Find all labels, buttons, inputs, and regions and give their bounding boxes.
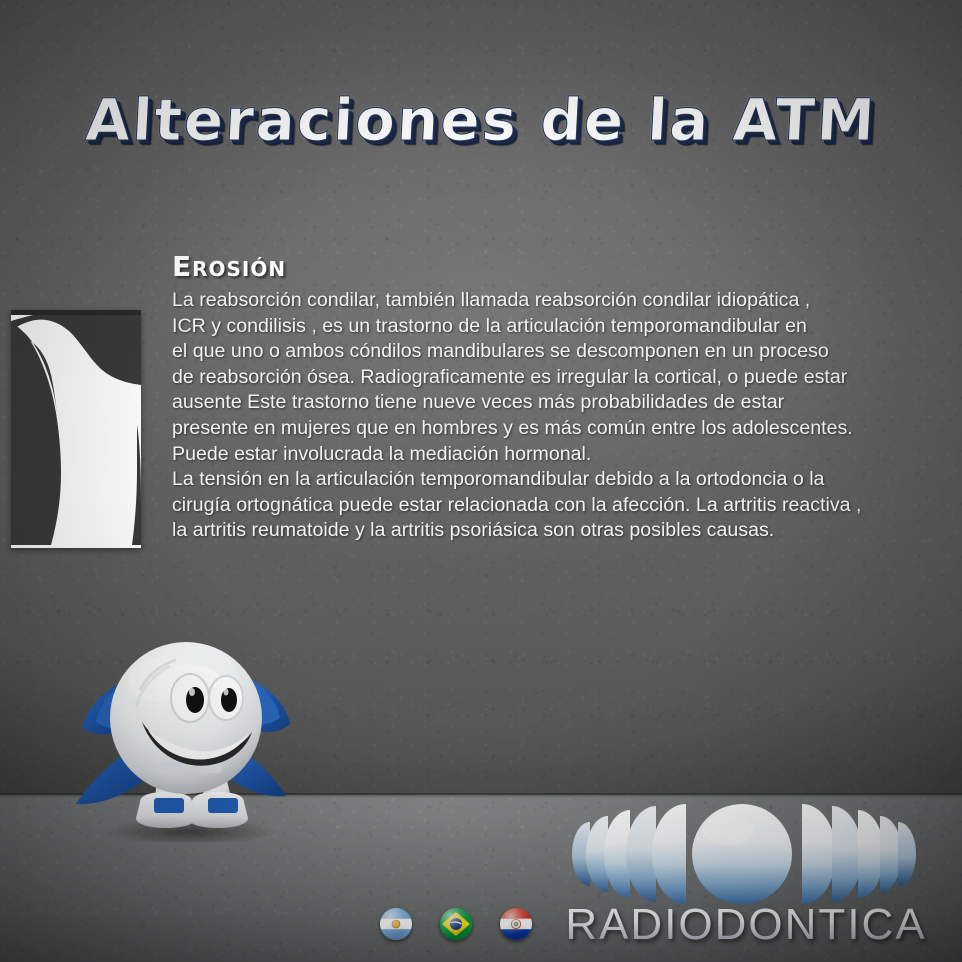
radiodontica-mascot	[62, 626, 310, 842]
condyle-erosion-image	[11, 310, 141, 548]
page-title: Alteraciones de la ATM	[0, 86, 962, 154]
section-heading: Erosión	[172, 250, 286, 283]
logo-sliced-sphere-icon	[546, 804, 946, 904]
flag-brasil-icon[interactable]	[440, 908, 472, 940]
language-flag-bar	[380, 908, 532, 940]
flag-paraguay-icon[interactable]	[500, 908, 532, 940]
section-body: La reabsorción condilar, también llamada…	[172, 288, 950, 544]
brand-logo[interactable]: RADIODONTICA	[546, 804, 946, 954]
slide-canvas: Alteraciones de la ATM Erosión La reabs	[0, 0, 962, 962]
logo-wordmark: RADIODONTICA	[546, 900, 946, 950]
flag-argentina-icon[interactable]	[380, 908, 412, 940]
